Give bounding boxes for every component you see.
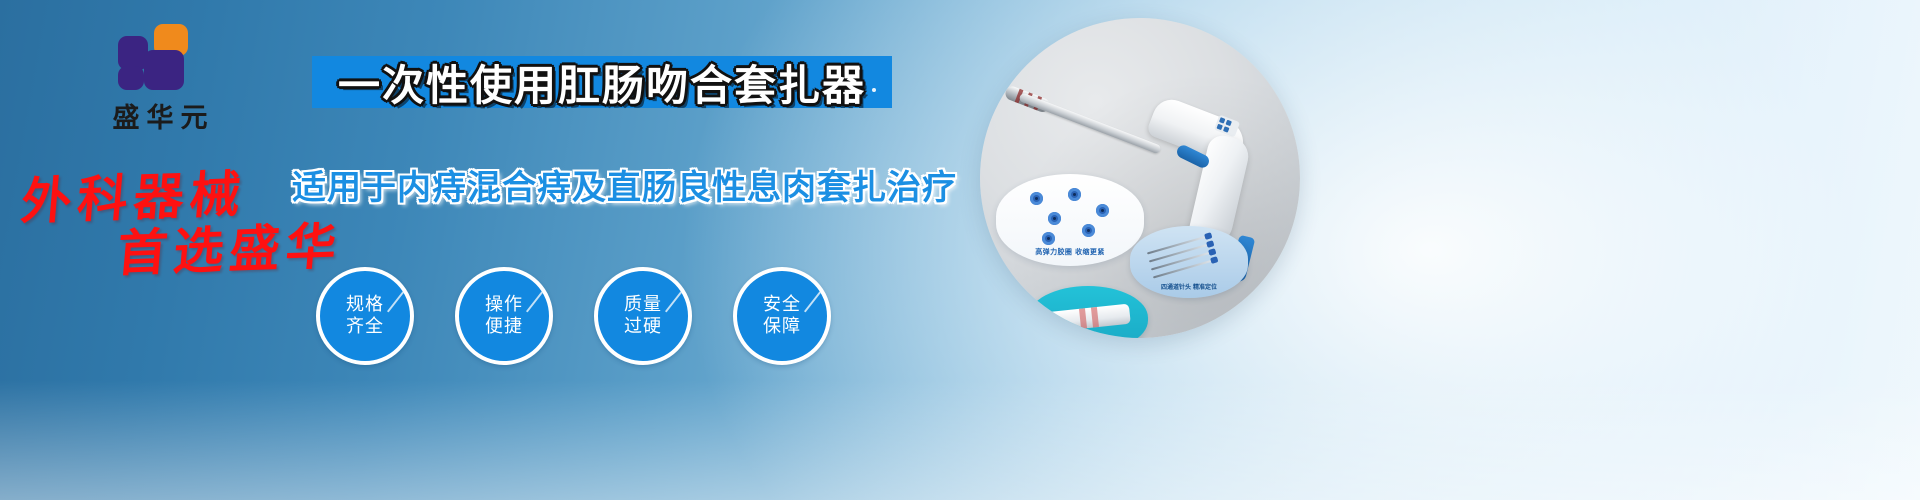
brand-name: 盛华元	[60, 96, 260, 135]
logo-block-bottom	[118, 66, 144, 90]
feature-badge-1-line1: 规格	[346, 294, 384, 317]
inset-needles-caption: 四通道针头 精准定位	[1130, 282, 1248, 291]
feature-badge-3[interactable]: 质量 过硬	[594, 267, 692, 365]
inset-rubber-rings: 高弹力胶圈 收缩更紧	[996, 174, 1144, 266]
feature-badge-4-line2: 保障	[763, 316, 801, 339]
sparkle-icon	[843, 92, 851, 94]
slogan-line-2: 首选盛华	[114, 206, 345, 286]
logo-block-center	[144, 50, 184, 90]
feature-badge-2-line1: 操作	[485, 294, 523, 317]
slash-icon	[665, 288, 685, 313]
sparkle-icon	[872, 88, 876, 92]
subtitle: 适用于内痔混合痔及直肠良性息肉套扎治疗	[292, 160, 912, 209]
feature-badge-3-line1: 质量	[624, 294, 662, 317]
slash-icon	[526, 288, 546, 313]
slash-icon	[804, 288, 824, 313]
tube-icon	[1045, 304, 1131, 333]
slash-icon	[387, 288, 407, 313]
page-title: 一次性使用肛肠吻合套扎器	[312, 52, 892, 112]
product-photo: 高弹力胶圈 收缩更紧 四通道针头 精准定位	[980, 18, 1300, 338]
feature-badge-2-line2: 便捷	[485, 316, 523, 339]
promo-banner: 盛华元 一次性使用肛肠吻合套扎器 外科器械 首选盛华 适用于内痔混合痔及直肠良性…	[0, 0, 1920, 500]
feature-badge-3-line2: 过硬	[624, 316, 662, 339]
inset-rings-caption: 高弹力胶圈 收缩更紧	[996, 247, 1144, 257]
shenghuayuan-blocks-logo-icon	[118, 24, 202, 90]
feature-badge-1-line2: 齐全	[346, 316, 384, 339]
feature-badge-1[interactable]: 规格 齐全	[316, 267, 414, 365]
sparkle-icon	[855, 66, 860, 71]
feature-badge-2[interactable]: 操作 便捷	[455, 267, 553, 365]
inset-needles: 四通道针头 精准定位	[1130, 226, 1248, 298]
feature-badge-4-line1: 安全	[763, 294, 801, 317]
brand-logo[interactable]: 盛华元	[60, 24, 260, 135]
feature-badge-4[interactable]: 安全 保障	[733, 267, 831, 365]
